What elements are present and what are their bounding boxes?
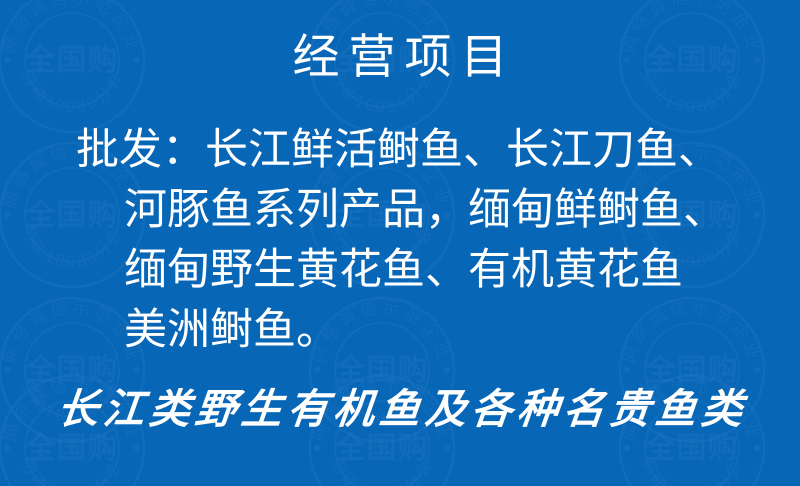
business-scope-line-3: 缅甸野生黄花鱼、有机黄花鱼 [0,240,800,300]
business-scope-line-4: 美洲鲥鱼。 [0,300,800,360]
tagline: 长江类野生有机鱼及各种名贵鱼类 [0,384,800,434]
business-scope-line-1: 批发：长江鲜活鲥鱼、长江刀鱼、 [0,120,800,180]
business-scope-line-2: 河豚鱼系列产品，缅甸鲜鲥鱼、 [0,180,800,240]
poster-content: 经营项目 批发：长江鲜活鲥鱼、长江刀鱼、 河豚鱼系列产品，缅甸鲜鲥鱼、 缅甸野生… [0,0,800,486]
business-scope-list: 批发：长江鲜活鲥鱼、长江刀鱼、 河豚鱼系列产品，缅甸鲜鲥鱼、 缅甸野生黄花鱼、有… [0,120,800,360]
page-title: 经营项目 [0,30,800,84]
poster-canvas: 网络诚信示范企业劳动10086分会全国购网络诚信示范企业劳动10086分会全国购… [0,0,800,486]
